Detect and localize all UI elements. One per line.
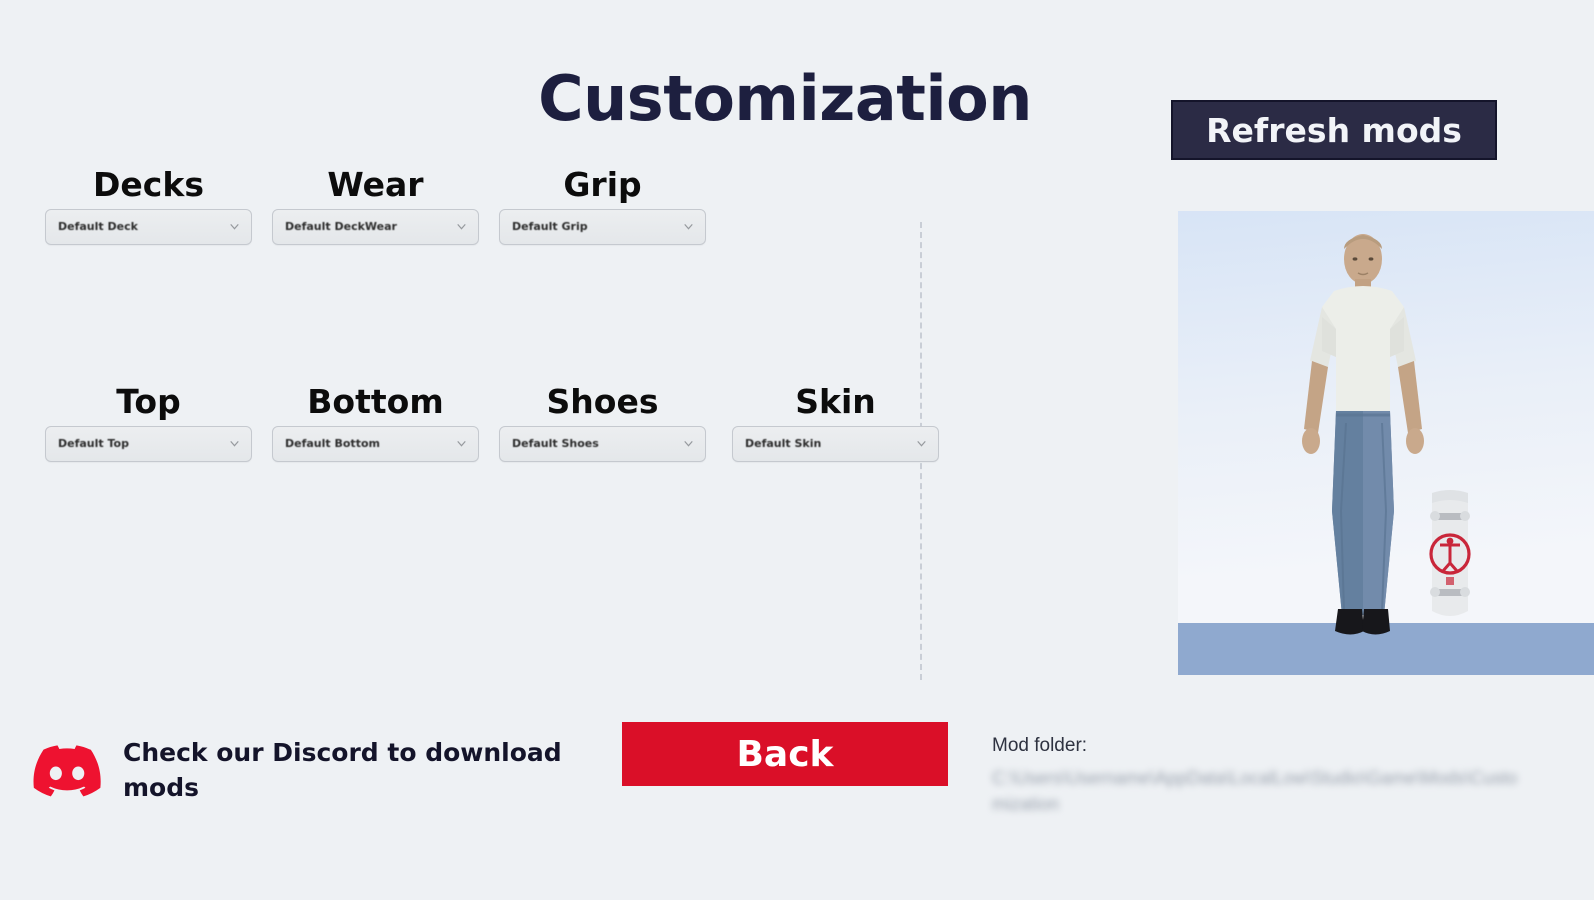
character-model [1132, 211, 1594, 675]
render-edge-artifact [1132, 211, 1178, 675]
dropdown-grip-value: Default Grip [512, 220, 588, 233]
discord-row[interactable]: Check our Discord to download mods [33, 736, 593, 805]
dropdown-wear[interactable]: Default DeckWear [272, 209, 479, 245]
skateboard [1430, 490, 1470, 616]
dropdown-top[interactable]: Default Top [45, 426, 252, 462]
option-group-top: Top Default Top [45, 385, 252, 462]
dropdown-decks-value: Default Deck [58, 220, 138, 233]
chevron-down-icon [228, 437, 241, 450]
mod-folder-block: Mod folder: C:\Users\Username\AppData\Lo… [992, 734, 1532, 817]
back-button[interactable]: Back [622, 722, 948, 786]
option-group-wear: Wear Default DeckWear [272, 168, 479, 245]
mod-folder-label: Mod folder: [992, 734, 1532, 759]
dropdown-skin[interactable]: Default Skin [732, 426, 939, 462]
mod-folder-path: C:\Users\Username\AppData\LocalLow\Studi… [992, 765, 1522, 817]
dropdown-grip[interactable]: Default Grip [499, 209, 706, 245]
option-group-decks: Decks Default Deck [45, 168, 252, 245]
chevron-down-icon [455, 220, 468, 233]
option-label-wear: Wear [272, 168, 479, 203]
option-group-skin: Skin Default Skin [732, 385, 939, 462]
dropdown-decks[interactable]: Default Deck [45, 209, 252, 245]
option-label-skin: Skin [732, 385, 939, 420]
back-button-label: Back [736, 734, 833, 775]
refresh-mods-label: Refresh mods [1206, 111, 1462, 150]
dropdown-skin-value: Default Skin [745, 437, 821, 450]
chevron-down-icon [455, 437, 468, 450]
dropdown-bottom[interactable]: Default Bottom [272, 426, 479, 462]
option-label-shoes: Shoes [499, 385, 706, 420]
discord-icon [33, 745, 101, 797]
dropdown-bottom-value: Default Bottom [285, 437, 380, 450]
dropdown-shoes-value: Default Shoes [512, 437, 599, 450]
dropdown-top-value: Default Top [58, 437, 129, 450]
option-group-shoes: Shoes Default Shoes [499, 385, 706, 462]
chevron-down-icon [915, 437, 928, 450]
character-preview[interactable] [1132, 211, 1594, 675]
refresh-mods-button[interactable]: Refresh mods [1171, 100, 1497, 160]
option-label-top: Top [45, 385, 252, 420]
option-group-grip: Grip Default Grip [499, 168, 706, 245]
option-label-decks: Decks [45, 168, 252, 203]
dropdown-shoes[interactable]: Default Shoes [499, 426, 706, 462]
option-label-bottom: Bottom [272, 385, 479, 420]
option-label-grip: Grip [499, 168, 706, 203]
discord-text: Check our Discord to download mods [123, 736, 583, 805]
option-group-bottom: Bottom Default Bottom [272, 385, 479, 462]
chevron-down-icon [682, 220, 695, 233]
chevron-down-icon [682, 437, 695, 450]
dropdown-wear-value: Default DeckWear [285, 220, 397, 233]
chevron-down-icon [228, 220, 241, 233]
